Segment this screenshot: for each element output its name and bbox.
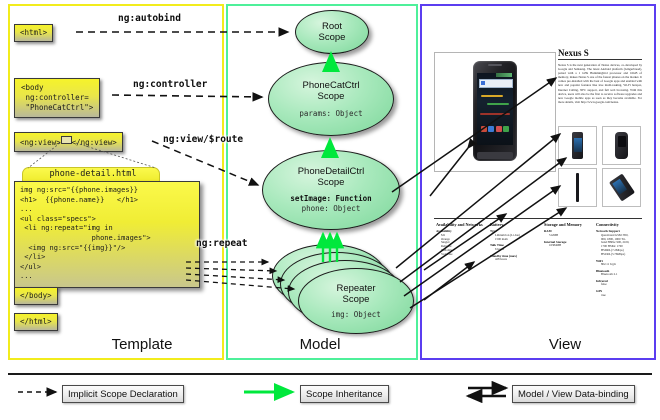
ngview-slot-icon [61, 136, 72, 144]
phone-thumb-front-icon [572, 132, 583, 159]
phone-thumb-back-icon [615, 132, 628, 159]
phone-wallpaper-stripe-2 [487, 103, 509, 105]
edge-label-controller: ng:controller [133, 79, 207, 90]
phone-description: Nexus S is the next generation of Nexus … [558, 63, 642, 104]
spec-value: HSUPA (5.76Mbps) [596, 253, 646, 257]
angular-concepts-diagram: Template Model View <html> <body ng:cont… [0, 0, 660, 420]
spec-column-storage: Storage and Memory RAM 512MB Internal St… [544, 222, 592, 248]
spec-value: 428 hours [490, 258, 538, 262]
code-callout-title: phone-detail.html [28, 168, 158, 181]
spec-value: true [596, 294, 646, 298]
code-callout-body: img ng:src="{{phone.images}} <h1> {{phon… [14, 181, 200, 288]
scope-repeater: Repeater Scope img: Object [298, 268, 414, 334]
edge-label-repeat: ng:repeat [196, 238, 247, 249]
scope-phonedetailctrl-member-phone: phone: Object [302, 204, 361, 214]
phone-app-icon-1 [481, 126, 487, 132]
scope-phonedetailctrl-name-2: Scope [318, 177, 345, 188]
ngview-tag-box: <ng:view></ng:view> [14, 132, 123, 152]
scope-root-name-1: Root [322, 21, 342, 32]
spec-column-connectivity: Connectivity Network Support Quad-band G… [596, 222, 646, 297]
html-tag-box: <html> [14, 24, 53, 42]
scope-phonedetailctrl-name-1: PhoneDetailCtrl [298, 166, 365, 177]
scope-phonecatctrl-name-1: PhoneCatCtrl [302, 80, 359, 91]
phone-statusbar-icon [496, 73, 512, 77]
phone-speaker-icon [488, 64, 502, 66]
legend-item-implicit-scope-declaration: Implicit Scope Declaration [62, 385, 184, 403]
phone-app-icon-3 [496, 126, 502, 132]
scope-phonedetailctrl-member-setimage: setImage: Function [290, 194, 371, 204]
phone-title: Nexus S [558, 48, 589, 58]
view-rendered-page: Nexus S Nexus S is the next generation o… [430, 18, 644, 312]
spec-heading: Storage and Memory [544, 222, 592, 227]
phone-spec-table: Availability and Networks Availability M… [434, 218, 642, 311]
phone-wallpaper-stripe-1 [481, 95, 503, 97]
phone-screen [477, 73, 513, 145]
spec-value: 1500 mAh [490, 238, 538, 242]
scope-repeater-name-2: Scope [343, 294, 370, 305]
spec-value: false [596, 283, 646, 287]
phone-thumbnail-1[interactable] [558, 126, 597, 165]
spec-value: 6 hours [490, 248, 538, 252]
spec-column-battery: Battery Type Lithium Ion (Li-Ion) 1500 m… [490, 222, 538, 262]
legend-databinding-arrow-icon [468, 388, 506, 396]
scope-phonedetailctrl: PhoneDetailCtrl Scope setImage: Function… [262, 150, 400, 230]
spec-value: 512MB [544, 234, 592, 238]
phone-button-bar [477, 152, 513, 159]
phone-hero-image-frame [434, 52, 556, 172]
phone-search-widget-icon [479, 79, 513, 88]
end-body-tag-box: </body> [14, 287, 58, 305]
spec-heading: Availability and Networks [436, 222, 484, 227]
end-html-tag-box: </html> [14, 313, 58, 331]
spec-value: Vodafone [436, 253, 484, 257]
scope-phonecatctrl-member-params: params: Object [299, 109, 362, 119]
scope-repeater-name-1: Repeater [336, 283, 375, 294]
ngview-close-label: </ng:view> [72, 138, 117, 147]
phone-device-illustration [473, 61, 517, 161]
ngview-open-label: <ng:view> [20, 138, 61, 147]
phone-thumbnail-2[interactable] [602, 126, 641, 165]
phone-title-rule [558, 59, 642, 60]
column-label-view: View [485, 336, 645, 353]
spec-heading: Connectivity [596, 222, 646, 227]
edge-label-autobind: ng:autobind [118, 13, 181, 24]
legend-item-data-binding: Model / View Data-binding [512, 385, 635, 403]
scope-repeater-member-img: img: Object [331, 310, 381, 320]
edge-label-view-route: ng:view/$route [163, 134, 243, 145]
spec-column-availability: Availability and Networks Availability M… [436, 222, 484, 257]
scope-root: Root Scope [295, 10, 369, 54]
scope-phonecatctrl-name-2: Scope [318, 91, 345, 102]
phone-thumb-angled-icon [609, 173, 635, 201]
phone-thumb-side-icon [576, 173, 579, 202]
scope-phonecatctrl: PhoneCatCtrl Scope params: Object [268, 62, 394, 136]
phone-thumbnail-3[interactable] [558, 168, 597, 207]
repeater-scope-stack: Repeater Scope img: Object [272, 240, 412, 340]
phone-wallpaper-stripe-3 [480, 113, 510, 115]
body-tag-box: <body ng:controller= "PhoneCatCtrl"> [14, 78, 100, 118]
phone-thumbnail-4[interactable] [602, 168, 641, 207]
spec-value: Bluetooth 2.1 [596, 273, 646, 277]
column-label-template: Template [62, 336, 222, 353]
phone-app-icon-2 [488, 126, 494, 132]
phone-app-icon-4 [503, 126, 509, 132]
legend-item-scope-inheritance: Scope Inheritance [300, 385, 389, 403]
legend-divider [8, 373, 652, 375]
phone-app-dock [477, 123, 513, 135]
spec-value: 802.11 b/g/n [596, 263, 646, 267]
spec-heading: Battery [490, 222, 538, 227]
scope-root-name-2: Scope [319, 32, 346, 43]
spec-value: 16384MB [544, 244, 592, 248]
